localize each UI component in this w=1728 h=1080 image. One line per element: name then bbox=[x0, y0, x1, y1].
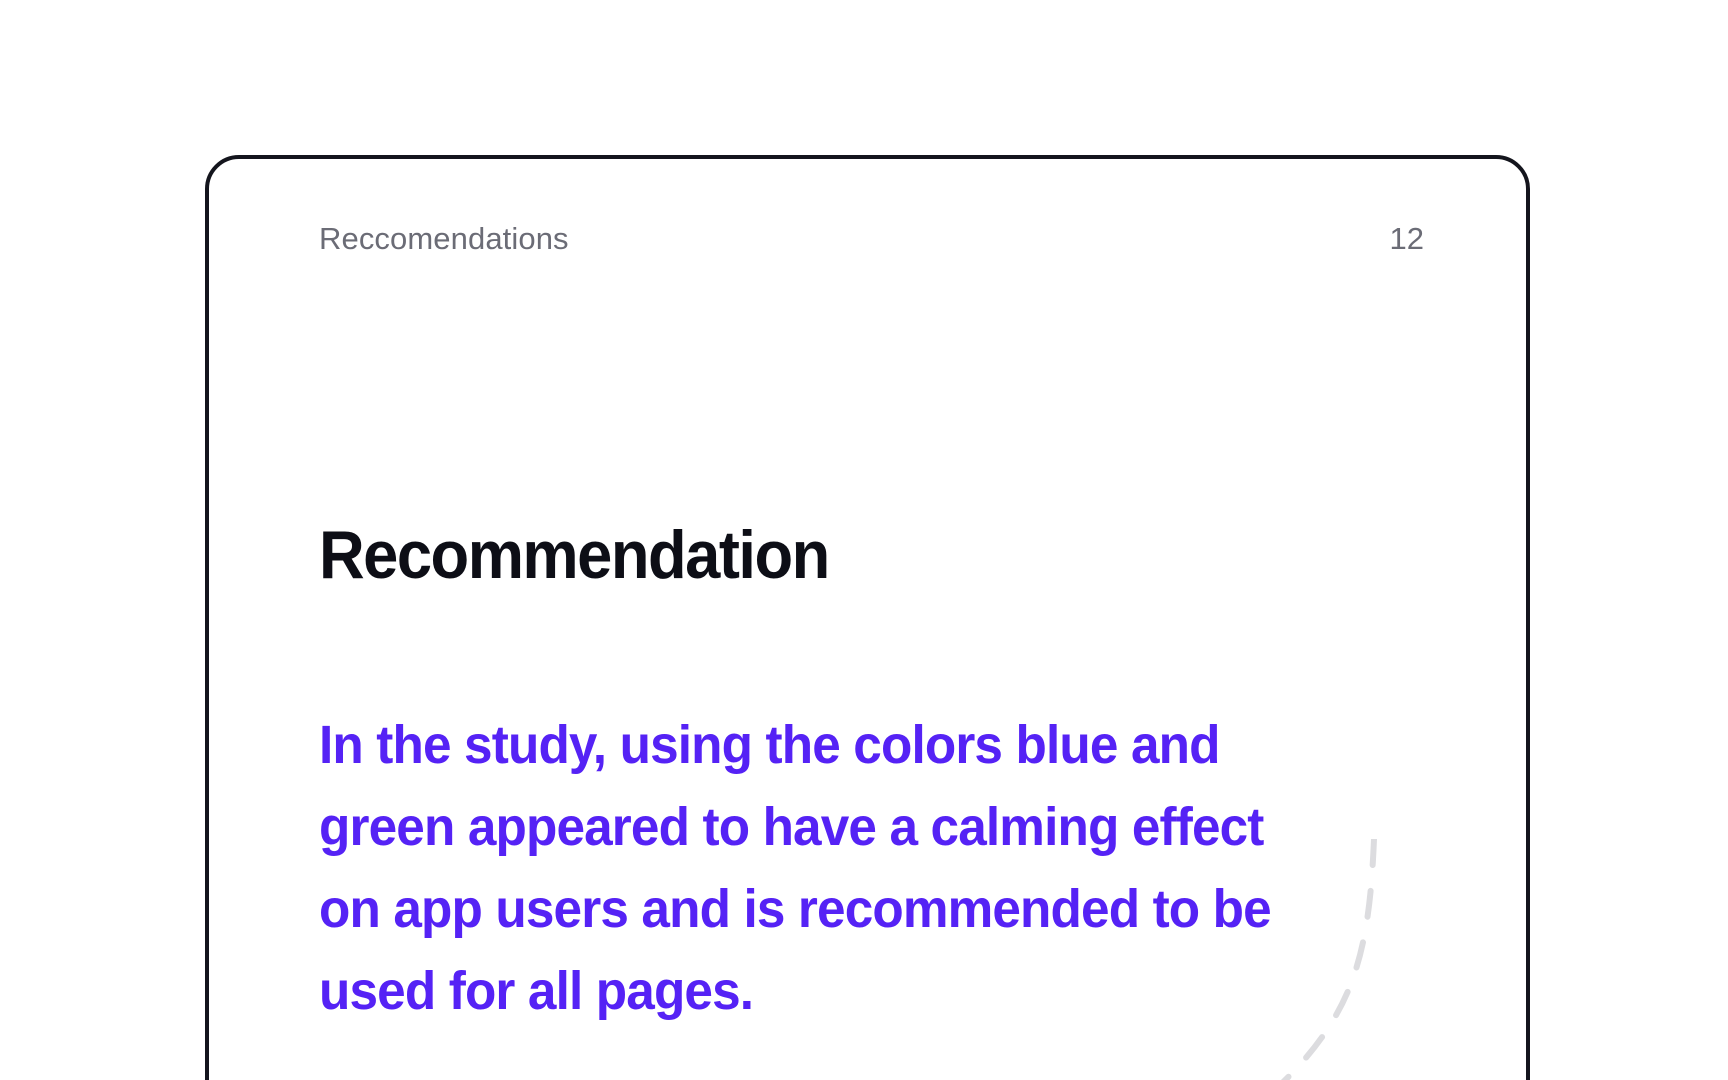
header-section-label: Reccomendations bbox=[319, 222, 569, 256]
page-number: 12 bbox=[1390, 222, 1424, 256]
recommendation-body-text: In the study, using the colors blue and … bbox=[319, 704, 1298, 1032]
page-title: Recommendation bbox=[319, 521, 829, 589]
card-header: Reccomendations 12 bbox=[319, 222, 1424, 256]
slide-card: Reccomendations 12 Recommendation In the… bbox=[205, 155, 1530, 1080]
